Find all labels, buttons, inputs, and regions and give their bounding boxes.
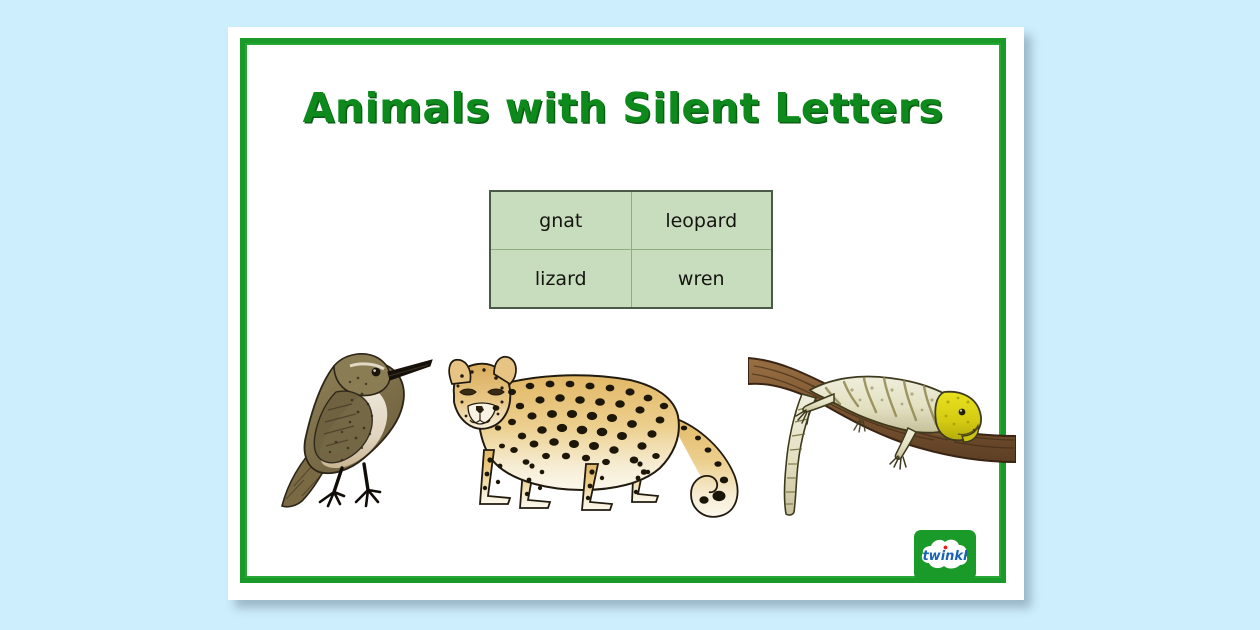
silent-letter-word-table: gnat leopard lizard wren: [489, 190, 773, 309]
word-cell-wren: wren: [631, 250, 772, 309]
twinkl-cloud-icon: twinkl: [918, 537, 972, 573]
page-title: Animals with Silent Letters: [240, 84, 1006, 132]
twinkl-logo[interactable]: twinkl: [914, 530, 976, 580]
table-row: gnat leopard: [490, 191, 772, 250]
poster-canvas: Animals with Silent Letters gnat leopard…: [0, 0, 1260, 630]
word-cell-lizard: lizard: [490, 250, 631, 309]
word-cell-gnat: gnat: [490, 191, 631, 250]
leopard-illustration: [432, 344, 752, 524]
wren-illustration: [272, 336, 452, 526]
word-cell-leopard: leopard: [631, 191, 772, 250]
svg-text:twinkl: twinkl: [922, 549, 968, 564]
table-row: lizard wren: [490, 250, 772, 309]
lizard-illustration: [748, 344, 1016, 524]
